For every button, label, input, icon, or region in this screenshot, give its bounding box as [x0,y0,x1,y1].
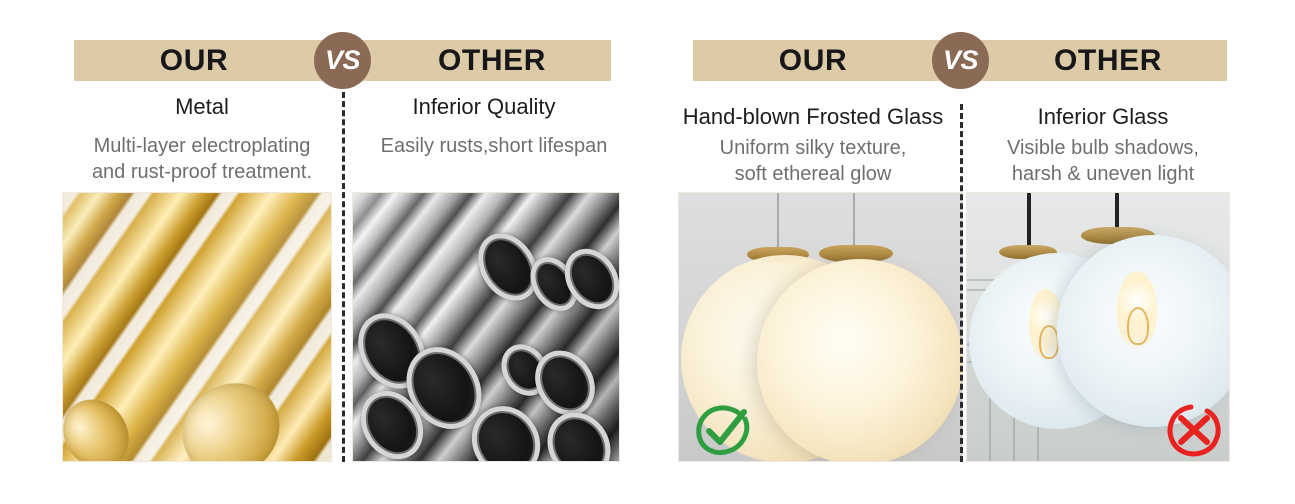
our-column-title: Metal [74,94,330,120]
other-column-description: Easily rusts,short lifespan [350,134,638,160]
header-other-label: OTHER [372,40,612,81]
header-other-label: OTHER [988,40,1228,81]
other-column-title: Inferior Glass [958,104,1248,130]
comparison-panel-glass: OUR OTHER VS Hand-blown Frosted Glass In… [648,0,1295,504]
our-column-description: Multi-layer electroplating and rust-proo… [58,134,346,185]
pendant-cord [1115,193,1119,227]
warm-frosted-globe-pendants-photo [679,193,962,461]
other-photo-frame [352,192,620,462]
our-description-line-1: Uniform silky texture, [668,136,958,162]
pendant-cord [1027,193,1031,249]
frosted-globe-front [757,259,963,462]
chrome-steel-tubes-photo [353,193,619,461]
cross-mark-icon [1163,399,1225,461]
our-description-line-2: soft ethereal glow [668,162,958,188]
header-our-label: OUR [693,40,933,81]
our-description-line-2: and rust-proof treatment. [58,160,346,186]
gold-specular-highlight [63,193,331,461]
column-divider [960,104,963,462]
gold-metal-rods-photo [63,193,331,461]
other-description-line-2: harsh & uneven light [958,162,1248,188]
other-description-line-1: Easily rusts,short lifespan [350,134,638,160]
bulb-filament [1039,325,1059,359]
our-column-title: Hand-blown Frosted Glass [668,104,958,130]
our-column-description: Uniform silky texture, soft ethereal glo… [668,136,958,187]
header-our-label: OUR [74,40,314,81]
check-mark-icon [693,399,755,461]
column-divider [342,92,345,462]
comparison-graphic: OUR OTHER VS Metal Inferior Quality Mult… [0,0,1295,504]
our-photo-frame [678,192,963,462]
pendant-cord [777,193,779,251]
pendant-cord [853,193,855,249]
other-column-description: Visible bulb shadows, harsh & uneven lig… [958,136,1248,187]
other-column-title: Inferior Quality [356,94,612,120]
our-description-line-1: Multi-layer electroplating [58,134,346,160]
comparison-panel-metal: OUR OTHER VS Metal Inferior Quality Mult… [0,0,648,504]
other-description-line-1: Visible bulb shadows, [958,136,1248,162]
other-photo-frame [966,192,1230,462]
bulb-filament [1127,307,1149,345]
our-photo-frame [62,192,332,462]
cool-frosted-globe-pendants-photo [967,193,1229,461]
vs-badge: VS [932,32,989,89]
vs-badge: VS [314,32,371,89]
